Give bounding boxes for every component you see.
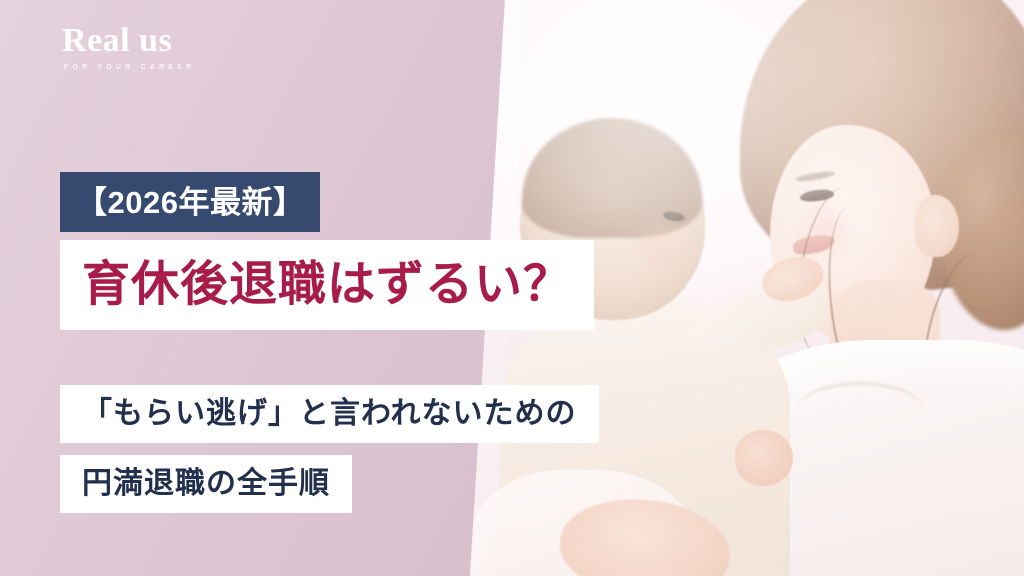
subheadline-line-2: 円満退職の全手順 bbox=[82, 469, 330, 499]
page-title: 育休後退職はずるい？ bbox=[82, 261, 572, 309]
year-badge: 【2026年最新】 bbox=[60, 172, 320, 232]
subheadline-box-2: 円満退職の全手順 bbox=[60, 455, 352, 513]
subheadline-box-1: 「もらい逃げ」と言われないための bbox=[60, 385, 599, 443]
logo-tagline: FOR YOUR CAREER bbox=[62, 64, 195, 71]
subheadline-line-1: 「もらい逃げ」と言われないための bbox=[82, 399, 577, 429]
year-badge-label: 【2026年最新】 bbox=[76, 187, 304, 218]
logo-wordmark: Real us bbox=[62, 24, 195, 58]
headline-box: 育休後退職はずるい？ bbox=[60, 240, 594, 330]
brand-logo[interactable]: Real us FOR YOUR CAREER bbox=[62, 24, 195, 71]
banner-canvas: Real us FOR YOUR CAREER 【2026年最新】 育休後退職は… bbox=[0, 0, 1024, 576]
